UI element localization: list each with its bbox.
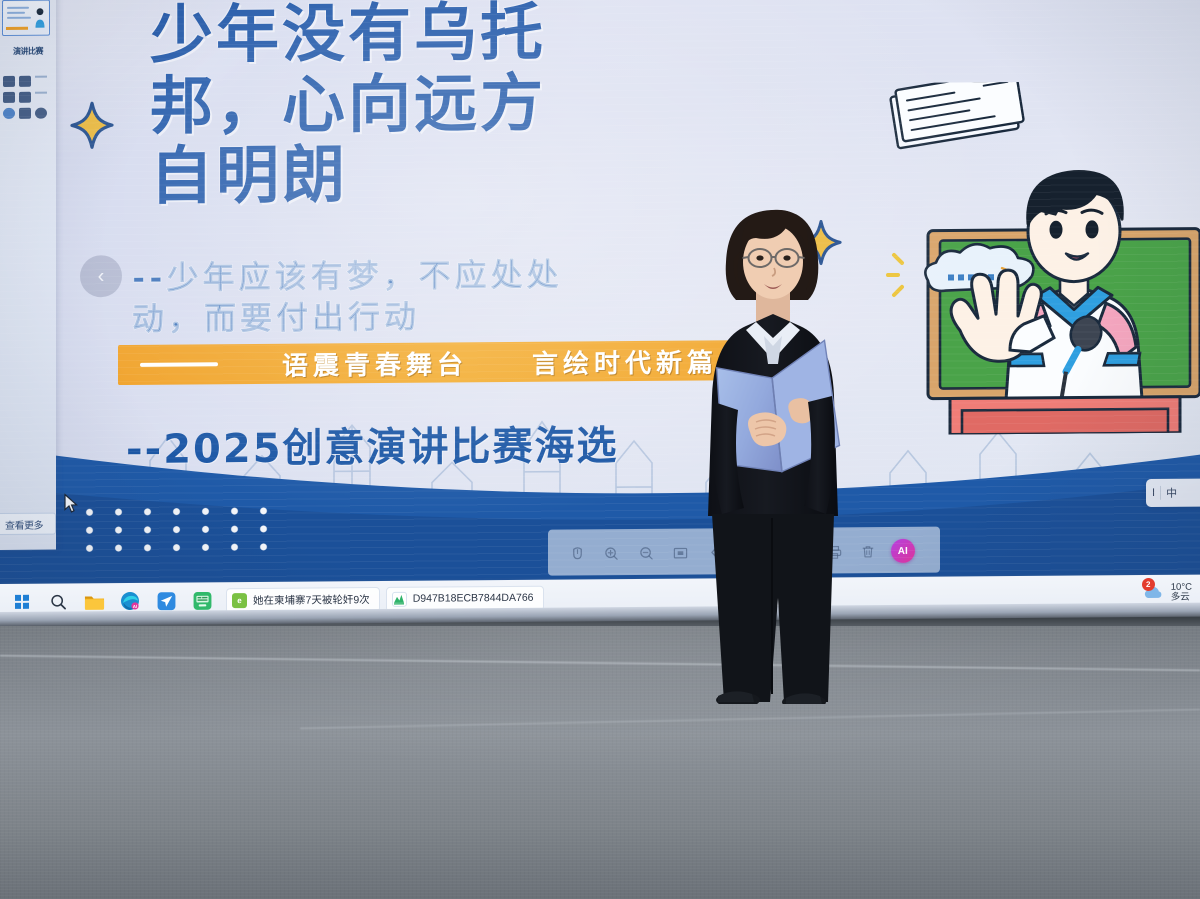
sidebar-tool[interactable] [3, 76, 15, 87]
ime-mode-label[interactable]: 中 [1166, 485, 1177, 501]
cartoon-speaker-illustration [884, 81, 1200, 435]
slide-orange-banner: 语震青春舞台 言绘时代新篇 [118, 340, 738, 385]
slide-title: 少年没有乌托 邦，心向远方 自明朗 [150, 0, 710, 212]
sparkle-icon [70, 101, 114, 149]
taskbar-window-title: D947B18ECB7844DA766 [413, 592, 534, 605]
floor-texture [0, 600, 1200, 899]
decorative-dot-grid [72, 500, 284, 558]
sidebar-tool[interactable] [3, 108, 15, 119]
ai-assistant-button[interactable]: AI [885, 536, 920, 566]
weather-widget-icon[interactable]: 2 [1144, 582, 1166, 604]
view-more-button[interactable]: 查看更多 [0, 513, 56, 536]
sidebar-tool[interactable] [35, 76, 47, 82]
taskbar-window-title: 她在柬埔寨7天被轮奸9次 [253, 592, 370, 608]
screenshot-root: 少年没有乌托 邦，心向远方 自明朗 --少年应该有梦，不应处处 动，而要付出行动… [0, 0, 1200, 899]
sidebar-tool[interactable] [35, 108, 47, 119]
select-tool-icon[interactable] [560, 538, 595, 568]
notification-badge: 2 [1142, 578, 1155, 591]
slide-subtitle: --少年应该有梦，不应处处 动，而要付出行动 [132, 253, 772, 340]
sidebar-tool-grid[interactable] [3, 76, 53, 124]
sidebar-tool[interactable] [19, 108, 31, 119]
svg-text:AI: AI [133, 604, 137, 609]
sidebar-thumbnail-caption: 演讲比赛 [1, 46, 55, 62]
zoom-in-icon[interactable] [595, 538, 630, 568]
weather-condition-label: 多云 [1171, 593, 1192, 603]
file-app-favicon [392, 591, 407, 606]
zoom-out-icon[interactable] [629, 538, 664, 568]
slide-thumbnail[interactable] [2, 0, 50, 36]
ime-cursor-indicator: I [1152, 487, 1155, 499]
slide-footer-text: --2025创意演讲比赛海选 [126, 412, 766, 475]
sidebar-tool[interactable] [19, 76, 31, 87]
search-icon [50, 593, 67, 610]
sidebar-tool[interactable] [3, 92, 15, 103]
news-app-favicon: e [232, 593, 247, 608]
ime-divider [1160, 486, 1161, 500]
projection-screen: 少年没有乌托 邦，心向远方 自明朗 --少年应该有梦，不应处处 动，而要付出行动… [0, 0, 1200, 604]
speaker-person [690, 196, 870, 704]
sidebar-tool[interactable] [35, 92, 47, 98]
windows-logo-icon [15, 595, 29, 609]
slide-thumbnail-sidebar[interactable]: 演讲比赛 [0, 0, 56, 550]
thumbnail-figure-icon [34, 7, 46, 29]
sidebar-tool[interactable] [19, 92, 31, 103]
ime-floating-bar[interactable]: I 中 [1146, 479, 1200, 507]
banner-text-left: 语震青春舞台 [282, 344, 468, 382]
stage-floor [0, 600, 1200, 899]
weather-text[interactable]: 10°C 多云 [1171, 582, 1192, 603]
prev-slide-button[interactable]: ‹ [80, 255, 122, 297]
mouse-cursor [64, 493, 78, 513]
ai-badge-label[interactable]: AI [891, 539, 915, 563]
banner-dash [140, 362, 218, 367]
paper-stack-icon [889, 81, 1024, 149]
